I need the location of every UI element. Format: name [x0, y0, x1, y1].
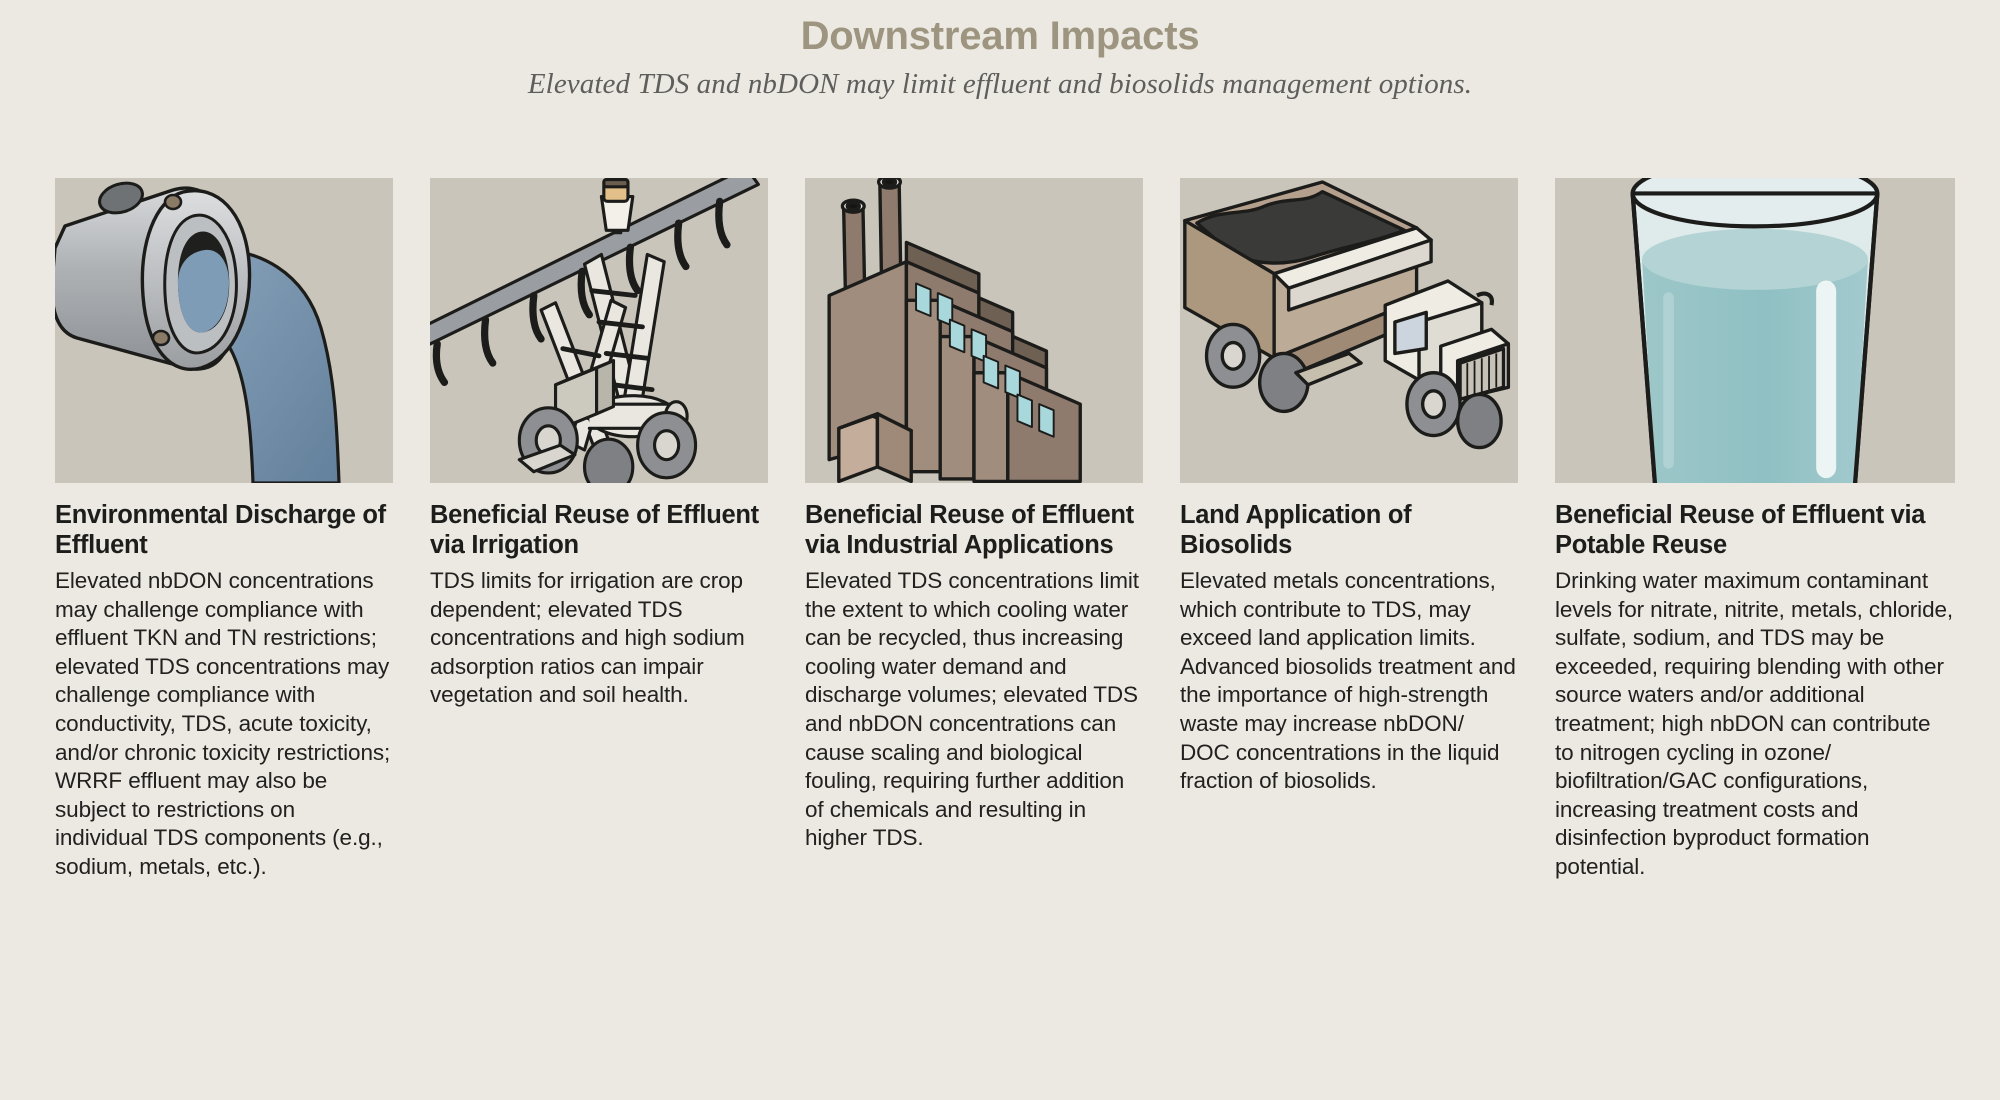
column-heading: Land Application of Biosolids [1180, 500, 1518, 560]
industrial-factory-illustration [805, 178, 1143, 483]
impact-column-environmental-discharge: Environmental Discharge of Effluent Elev… [55, 178, 393, 881]
column-heading: Beneficial Reuse of Effluent via Irrigat… [430, 500, 768, 560]
impact-column-potable-reuse: Beneficial Reuse of Effluent via Potable… [1555, 178, 1955, 881]
pipe-icon [55, 178, 393, 483]
column-heading: Environmental Discharge of Effluent [55, 500, 393, 560]
irrigation-pivot-illustration [430, 178, 768, 483]
factory-icon [805, 178, 1143, 483]
infographic-page: Downstream Impacts Elevated TDS and nbDO… [0, 0, 2000, 1100]
impact-column-industrial: Beneficial Reuse of Effluent via Industr… [805, 178, 1143, 881]
column-body-text: Drinking water maximum contaminant level… [1555, 567, 1955, 881]
impact-column-list: Environmental Discharge of Effluent Elev… [0, 178, 2000, 881]
dump-truck-icon [1180, 178, 1518, 483]
page-subtitle: Elevated TDS and nbDON may limit effluen… [0, 68, 2000, 101]
drinking-water-glass-illustration [1555, 178, 1955, 483]
column-body-text: Elevated metals concentrations, which co… [1180, 567, 1518, 796]
column-body-text: Elevated nbDON concentrations may challe… [55, 567, 393, 881]
effluent-discharge-pipe-illustration [55, 178, 393, 483]
column-body-text: TDS limits for irrigation are crop depen… [430, 567, 768, 710]
impact-column-land-application: Land Application of Biosolids Elevated m… [1180, 178, 1518, 881]
water-glass-icon [1555, 178, 1955, 483]
page-title: Downstream Impacts [0, 14, 2000, 58]
impact-column-irrigation: Beneficial Reuse of Effluent via Irrigat… [430, 178, 768, 881]
biosolids-dump-truck-illustration [1180, 178, 1518, 483]
header: Downstream Impacts Elevated TDS and nbDO… [0, 0, 2000, 101]
column-heading: Beneficial Reuse of Effluent via Potable… [1555, 500, 1955, 560]
column-body-text: Elevated TDS concentrations limit the ex… [805, 567, 1143, 853]
column-heading: Beneficial Reuse of Effluent via Industr… [805, 500, 1143, 560]
center-pivot-irrigator-icon [430, 178, 768, 483]
